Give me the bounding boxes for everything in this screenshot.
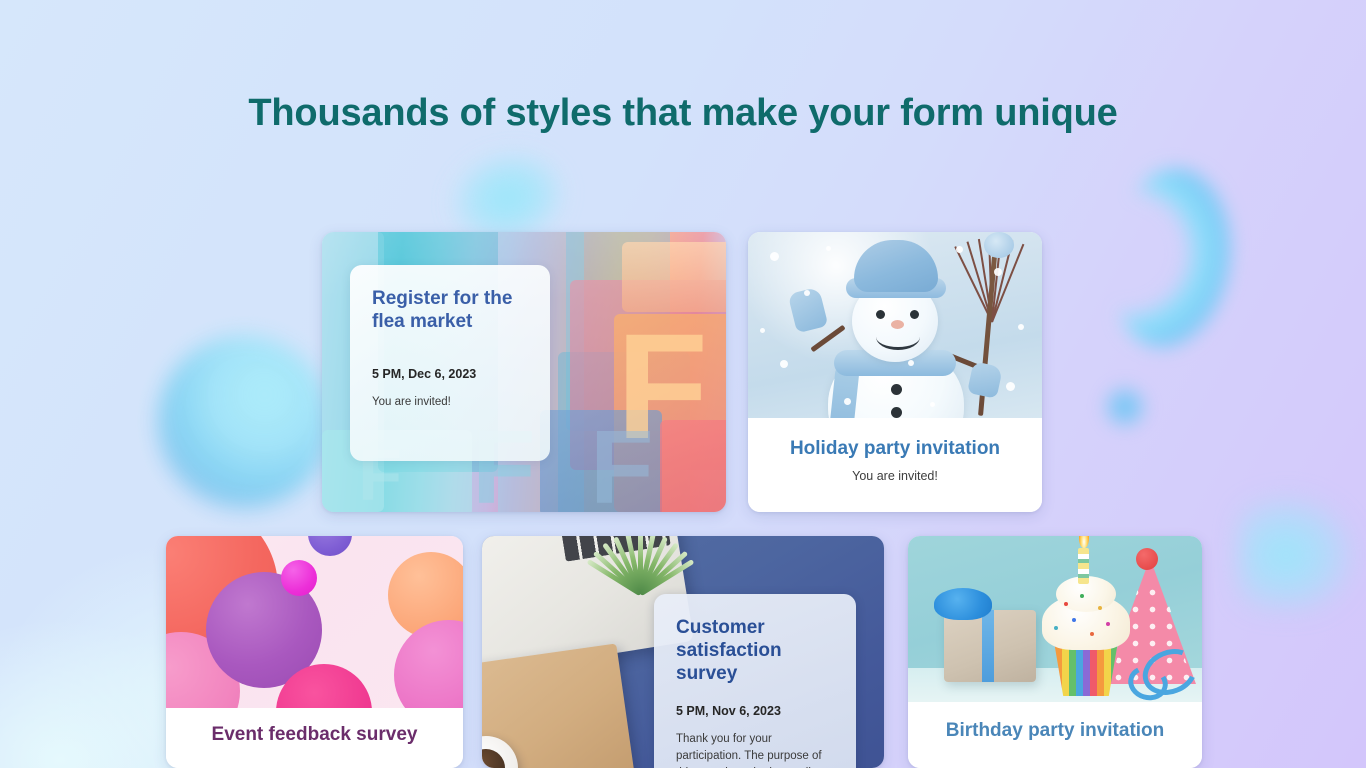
event-card-footer: Event feedback survey xyxy=(166,708,463,768)
holiday-subtitle: You are invited! xyxy=(748,469,1042,483)
customer-survey-date: 5 PM, Nov 6, 2023 xyxy=(676,704,834,718)
gift-box-icon xyxy=(944,610,1036,682)
snowman-photo xyxy=(748,232,1042,418)
letter-f-icon: F xyxy=(590,428,654,509)
flea-market-body: You are invited! xyxy=(372,394,528,411)
flea-market-date: 5 PM, Dec 6, 2023 xyxy=(372,367,528,381)
event-feedback-title: Event feedback survey xyxy=(166,724,463,747)
template-gallery: F F F F Register for the flea market 5 P… xyxy=(0,0,1366,768)
plant-icon xyxy=(580,536,704,600)
snow-scene xyxy=(748,232,1042,418)
holiday-title: Holiday party invitation xyxy=(748,438,1042,461)
winter-hat-icon xyxy=(854,240,938,292)
bubbles-artwork xyxy=(166,536,463,708)
holiday-card-footer: Holiday party invitation You are invited… xyxy=(748,418,1042,512)
customer-survey-body: Thank you for your participation. The pu… xyxy=(676,731,834,768)
mitten-icon xyxy=(967,361,1003,399)
template-card-event-feedback[interactable]: Event feedback survey xyxy=(166,536,463,768)
birthday-card-footer: Birthday party invitation xyxy=(908,702,1202,768)
template-card-holiday-party[interactable]: Holiday party invitation You are invited… xyxy=(748,232,1042,512)
template-card-customer-survey[interactable]: Customer satisfaction survey 5 PM, Nov 6… xyxy=(482,536,884,768)
candle-icon xyxy=(1078,548,1089,584)
flame-icon xyxy=(1079,536,1089,548)
birthday-title: Birthday party invitation xyxy=(908,720,1202,743)
flea-market-title: Register for the flea market xyxy=(372,287,528,333)
customer-survey-form-panel: Customer satisfaction survey 5 PM, Nov 6… xyxy=(654,594,856,768)
birthday-photo xyxy=(908,536,1202,702)
template-card-flea-market[interactable]: F F F F Register for the flea market 5 P… xyxy=(322,232,726,512)
customer-survey-title: Customer satisfaction survey xyxy=(676,616,834,686)
flea-market-form-panel: Register for the flea market 5 PM, Dec 6… xyxy=(350,265,550,461)
template-card-birthday-party[interactable]: Birthday party invitation xyxy=(908,536,1202,768)
